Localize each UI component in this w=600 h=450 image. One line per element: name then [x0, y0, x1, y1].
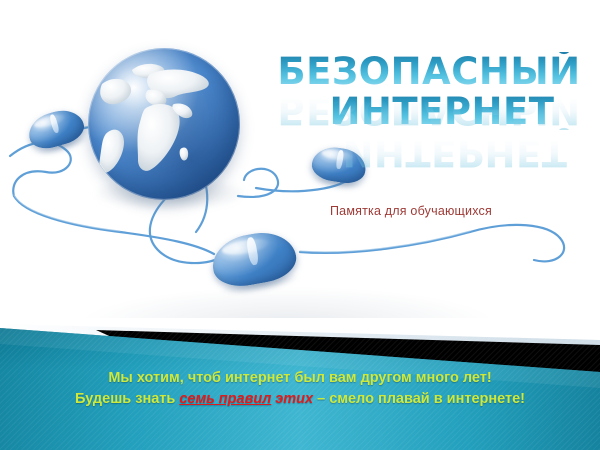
slide-canvas: БЕЗОПАСНЫЙ ИНТЕРНЕТ БЕЗОПАСНЫЙ ИНТЕРНЕТ … [0, 0, 600, 450]
banner-line-1: Мы хотим, чтоб интернет был вам другом м… [0, 368, 600, 389]
banner-message: Мы хотим, чтоб интернет был вам другом м… [0, 368, 600, 410]
title-line-1: БЕЗОПАСНЫЙ [268, 52, 590, 92]
page-title: БЕЗОПАСНЫЙ ИНТЕРНЕТ БЕЗОПАСНЫЙ ИНТЕРНЕТ [268, 52, 590, 160]
banner-line-2-prefix: Будешь знать [75, 391, 179, 407]
hero-image-stage: БЕЗОПАСНЫЙ ИНТЕРНЕТ БЕЗОПАСНЫЙ ИНТЕРНЕТ … [0, 0, 600, 330]
bottom-banner: Мы хотим, чтоб интернет был вам другом м… [0, 318, 600, 450]
globe-sphere [88, 48, 240, 200]
banner-emphasis-seven-rules: семь правил [179, 391, 271, 407]
banner-line-2-suffix: – смело плавай в интернете! [313, 391, 525, 407]
title-line-2: ИНТЕРНЕТ [268, 92, 590, 132]
subtitle-text: Памятка для обучающихся [330, 204, 492, 218]
banner-emphasis-these: этих [271, 391, 313, 407]
banner-line-2: Будешь знать семь правил этих – смело пл… [0, 389, 600, 410]
globe-continents [88, 48, 240, 200]
globe-image [88, 48, 248, 208]
